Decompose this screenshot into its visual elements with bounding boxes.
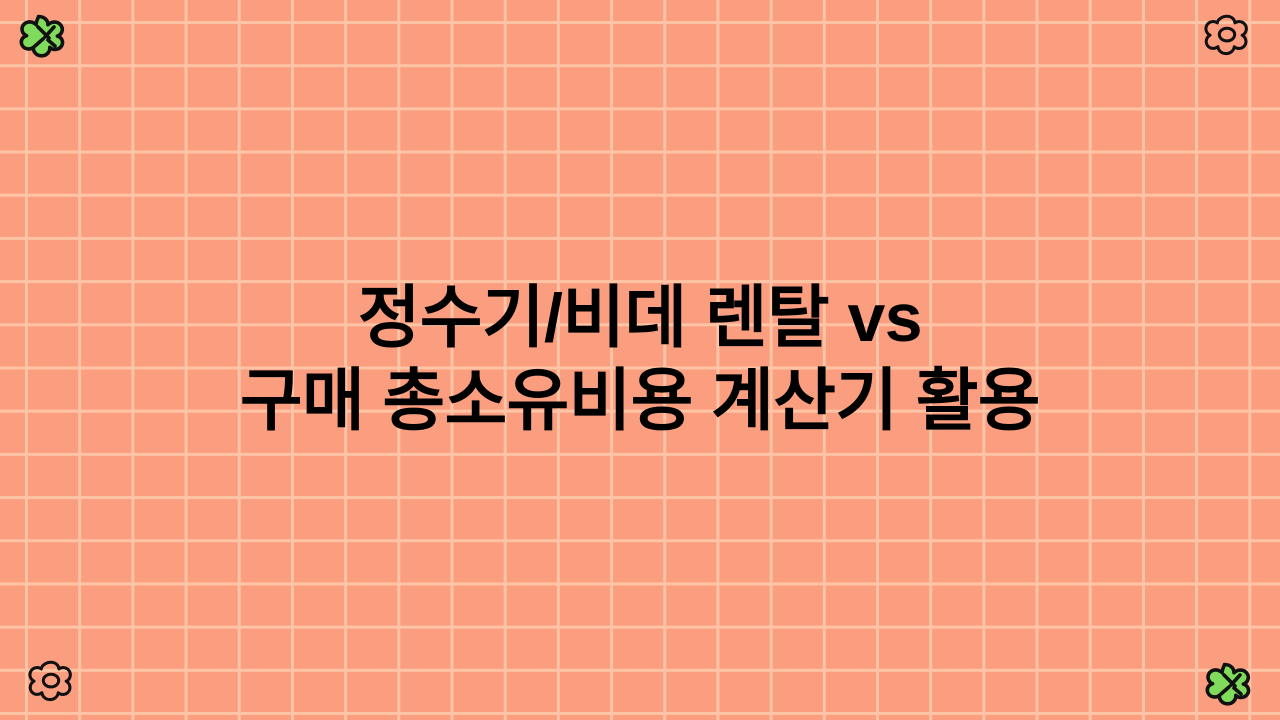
title-block: 정수기/비데 렌탈 vs 구매 총소유비용 계산기 활용 (0, 0, 1280, 720)
title-banner: 정수기/비데 렌탈 vs 구매 총소유비용 계산기 활용 (0, 0, 1280, 720)
page-title: 정수기/비데 렌탈 vs 구매 총소유비용 계산기 활용 (180, 277, 1100, 443)
